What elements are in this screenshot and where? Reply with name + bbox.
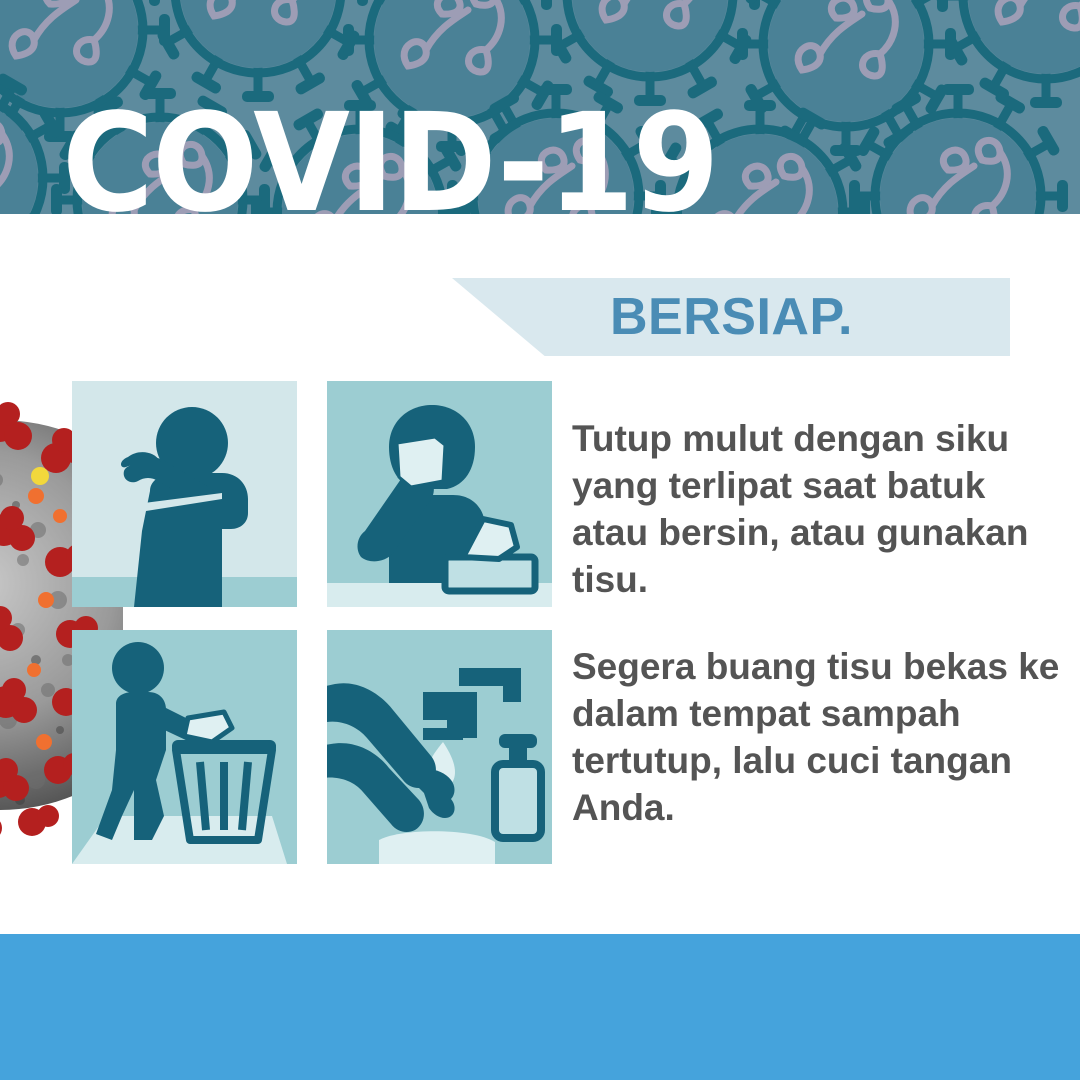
pictogram-tile-dispose-tissue-in-bin xyxy=(72,630,297,864)
page-title: COVID-19 xyxy=(62,96,718,214)
instruction-paragraph-1: Tutup mulut dengan siku yang terlipat sa… xyxy=(572,415,1067,603)
header-banner: COVID-19 xyxy=(0,0,1080,214)
section-banner: BERSIAP. xyxy=(452,278,1010,356)
pictogram-tile-wash-hands xyxy=(327,630,552,864)
instruction-text: Tutup mulut dengan siku yang terlipat sa… xyxy=(572,415,1067,831)
covid-infographic-poster: COVID-19 xyxy=(0,0,1080,1080)
pictogram-tile-cough-into-elbow xyxy=(72,381,297,607)
dispose-tissue-in-bin-icon xyxy=(72,630,297,864)
cough-into-elbow-icon xyxy=(72,381,297,607)
footer-bar: World Health Organization Indonesia WASP… xyxy=(0,934,1080,1080)
cover-with-tissue-icon xyxy=(327,381,552,607)
banner-label: BERSIAP. xyxy=(610,291,853,343)
pictogram-tile-cover-with-tissue xyxy=(327,381,552,607)
instruction-paragraph-2: Segera buang tisu bekas ke dalam tempat … xyxy=(572,643,1067,831)
wash-hands-icon xyxy=(327,630,552,864)
